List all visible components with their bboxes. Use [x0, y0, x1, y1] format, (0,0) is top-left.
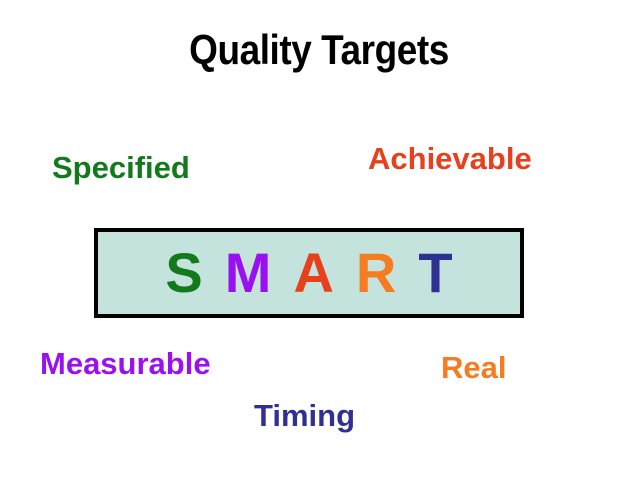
smart-acronym-box: S M A R T [94, 228, 524, 318]
label-specified: Specified [52, 152, 190, 183]
smart-letter-r: R [356, 245, 396, 301]
slide-canvas: Quality Targets Specified Achievable S M… [0, 0, 638, 479]
label-achievable: Achievable [368, 143, 532, 174]
label-measurable: Measurable [40, 348, 211, 379]
page-title: Quality Targets [38, 26, 599, 74]
smart-letters-row: S M A R T [165, 245, 452, 301]
smart-letter-s: S [165, 245, 202, 301]
label-real: Real [441, 352, 506, 383]
label-timing: Timing [254, 400, 355, 431]
smart-letter-a: A [293, 245, 333, 301]
smart-letter-t: T [418, 245, 452, 301]
smart-letter-m: M [225, 245, 272, 301]
